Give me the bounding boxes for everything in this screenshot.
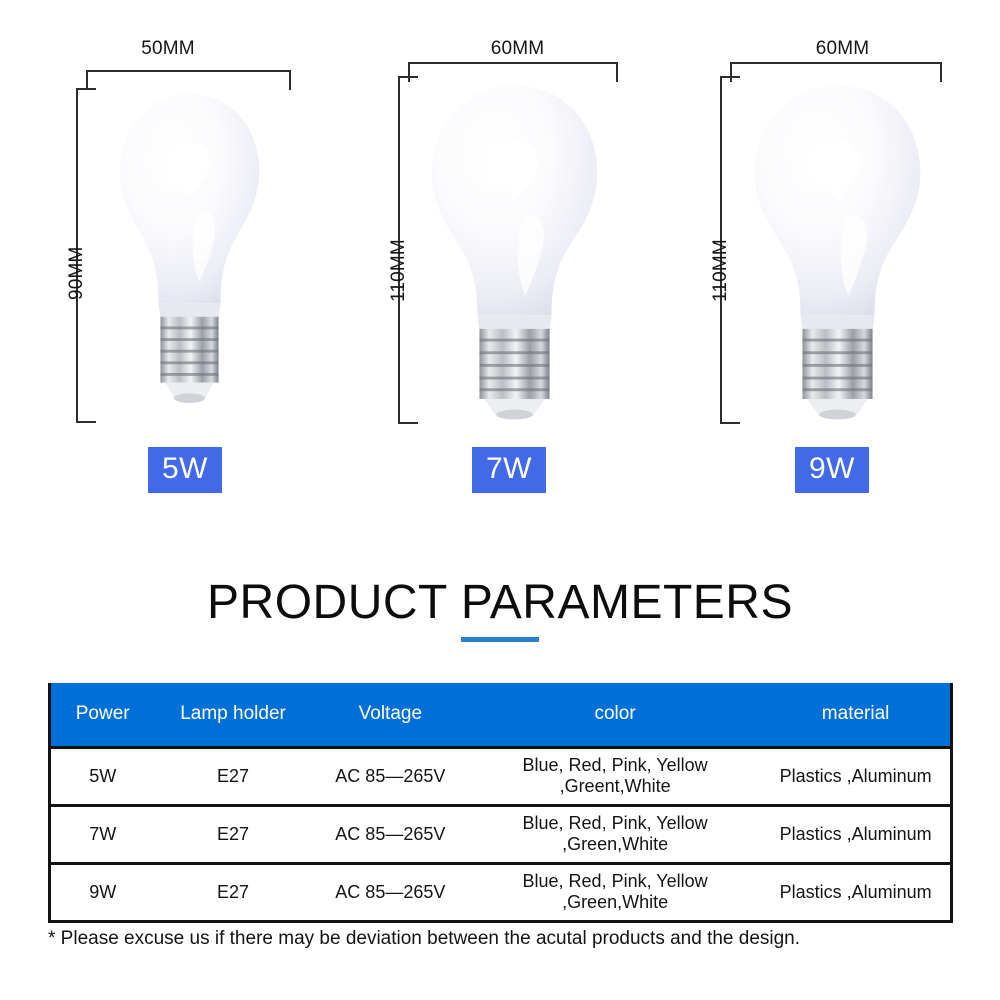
cell-material: Plastics ,Aluminum [761, 805, 950, 863]
column-header-material: material [761, 683, 950, 747]
wattage-badge-label: 5W [162, 454, 208, 484]
cell-power: 5W [51, 747, 154, 805]
cell-power: 7W [51, 805, 154, 863]
page-title: PRODUCT PARAMETERS [0, 578, 1000, 628]
bulb-showcase: 50MM 90MM [0, 0, 1000, 510]
width-dimension-label: 60MM [400, 38, 635, 60]
disclaimer-footnote: * Please excuse us if there may be devia… [48, 928, 968, 950]
light-bulb-image [745, 76, 930, 424]
cell-voltage: AC 85—265V [312, 863, 469, 921]
cell-material: Plastics ,Aluminum [761, 747, 950, 805]
product-card-9w: 60MM 110MM [680, 0, 980, 510]
cell-color: Blue, Red, Pink, Yellow ,Green,White [469, 863, 761, 921]
column-header-voltage: Voltage [312, 683, 469, 747]
product-spec-page: 50MM 90MM [0, 0, 1000, 1000]
parameters-table: Power Lamp holder Voltage color material… [48, 683, 953, 923]
height-dimension-label: 90MM [66, 246, 88, 300]
table-row: 5W E27 AC 85—265V Blue, Red, Pink, Yello… [51, 747, 950, 805]
product-card-7w: 60MM 110MM [360, 0, 660, 510]
table-row: 7W E27 AC 85—265V Blue, Red, Pink, Yello… [51, 805, 950, 863]
cell-material: Plastics ,Aluminum [761, 863, 950, 921]
cell-color: Blue, Red, Pink, Yellow ,Green,White [469, 805, 761, 863]
height-dimension-label: 110MM [388, 239, 410, 302]
wattage-badge: 7W [472, 447, 546, 493]
section-title-block: PRODUCT PARAMETERS [0, 578, 1000, 642]
cell-power: 9W [51, 863, 154, 921]
cell-holder: E27 [154, 805, 311, 863]
wattage-badge-label: 9W [809, 454, 855, 484]
column-header-color: color [469, 683, 761, 747]
width-dimension-label: 60MM [725, 38, 960, 60]
column-header-power: Power [51, 683, 154, 747]
column-header-holder: Lamp holder [154, 683, 311, 747]
wattage-badge-label: 7W [486, 454, 532, 484]
cell-voltage: AC 85—265V [312, 747, 469, 805]
light-bulb-image [112, 88, 267, 408]
product-card-5w: 50MM 90MM [30, 0, 350, 510]
cell-voltage: AC 85—265V [312, 805, 469, 863]
cell-holder: E27 [154, 863, 311, 921]
wattage-badge: 9W [795, 447, 869, 493]
light-bulb-image [422, 76, 607, 424]
wattage-badge: 5W [148, 447, 222, 493]
height-dimension-label: 110MM [710, 239, 732, 302]
cell-holder: E27 [154, 747, 311, 805]
table-header-row: Power Lamp holder Voltage color material [51, 683, 950, 747]
width-dimension-label: 50MM [38, 38, 298, 60]
width-dimension-bracket [86, 70, 291, 88]
title-accent-rule [461, 637, 539, 642]
cell-color: Blue, Red, Pink, Yellow ,Greent,White [469, 747, 761, 805]
table-row: 9W E27 AC 85—265V Blue, Red, Pink, Yello… [51, 863, 950, 921]
